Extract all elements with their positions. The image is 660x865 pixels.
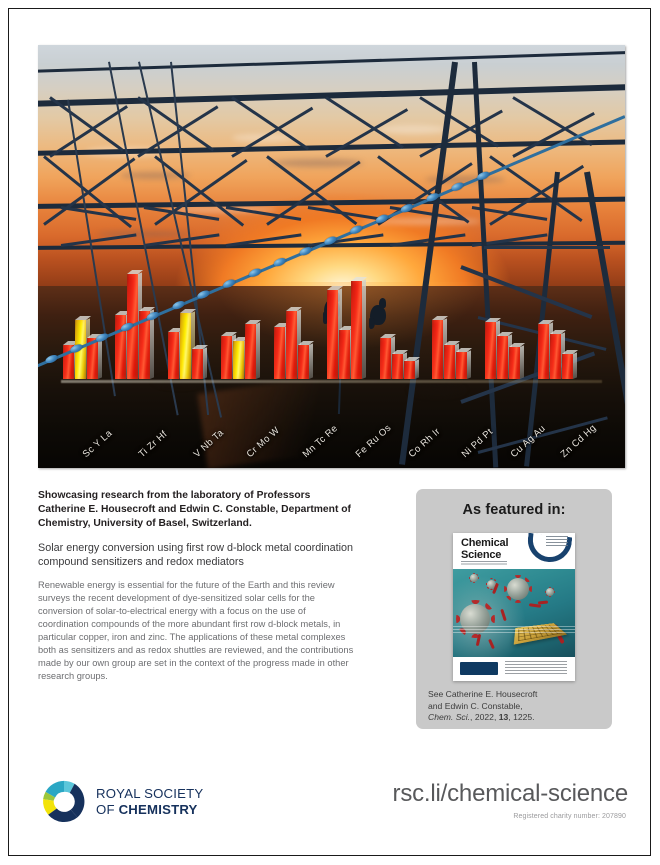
bar xyxy=(245,324,256,379)
bar-group-cr-mo-w xyxy=(221,324,256,379)
axis-label-mn-tc-re: Mn Tc Re xyxy=(301,422,340,459)
citation-year: 2022 xyxy=(475,712,494,722)
axis-label-ti-zr-hf: Ti Zr Hf xyxy=(136,428,169,459)
bar-group-zn-cd-hg xyxy=(538,324,573,379)
bar-chart: Sc Y La Ti Zr Hf V Nb Ta Cr Mo W Mn Tc R… xyxy=(38,45,625,468)
axis-label-ni-pd-pt: Ni Pd Pt xyxy=(459,426,495,460)
article-title: Solar energy conversion using first row … xyxy=(38,541,356,570)
page-footer: ROYAL SOCIETY OF CHEMISTRY rsc.li/chemic… xyxy=(0,762,660,862)
chart-baseline xyxy=(61,380,601,383)
citation-journal: Chem. Sci. xyxy=(428,712,470,722)
cover-title-line1: Chemical xyxy=(461,537,508,549)
bar-group-co-rh-ir xyxy=(380,338,415,379)
bar xyxy=(509,347,520,379)
axis-label-fe-ru-os: Fe Ru Os xyxy=(353,422,393,460)
cover-footer xyxy=(453,657,575,681)
rsc-wordmark-line1: ROYAL SOCIETY xyxy=(96,786,203,801)
journal-url[interactable]: rsc.li/chemical-science xyxy=(393,780,628,808)
bar xyxy=(221,336,232,379)
bar xyxy=(286,311,297,379)
axis-label-zn-cd-hg: Zn Cd Hg xyxy=(559,422,599,460)
rsc-wordmark-line2-prefix: OF xyxy=(96,802,119,817)
royal-society-of-chemistry-logo xyxy=(40,778,88,826)
bar xyxy=(485,322,496,379)
bar xyxy=(339,330,350,379)
as-featured-in-panel: As featured in: Chemical Science xyxy=(416,489,612,729)
bar xyxy=(432,320,443,379)
bar-group-ni-pd-pt xyxy=(432,320,467,379)
bar-group-v-nb-ta xyxy=(168,313,203,379)
bar-group-fe-ru-os xyxy=(327,281,362,379)
article-abstract: Renewable energy is essential for the fu… xyxy=(38,579,356,684)
bar xyxy=(274,327,285,379)
showcase-lead: Showcasing research from the laboratory … xyxy=(38,489,356,532)
bar xyxy=(192,349,203,379)
bar xyxy=(327,290,338,379)
bar-group-cu-ag-au xyxy=(485,322,520,379)
cover-issue-text xyxy=(546,536,568,548)
bar-group-mn-tc-re xyxy=(274,311,309,379)
rsc-wordmark-line2-bold: CHEMISTRY xyxy=(119,802,198,817)
bar xyxy=(351,281,362,379)
bar xyxy=(444,345,455,379)
cover-rsc-logo xyxy=(460,662,498,675)
cover-strapline xyxy=(461,561,507,566)
citation-line2: and Edwin C. Constable, xyxy=(428,701,523,711)
charity-number: Registered charity number: 207890 xyxy=(513,813,626,820)
cover-art-caption xyxy=(453,626,575,633)
hero-image: Sc Y La Ti Zr Hf V Nb Ta Cr Mo W Mn Tc R… xyxy=(38,45,625,468)
bar xyxy=(168,332,179,379)
axis-label-v-nb-ta: V Nb Ta xyxy=(192,427,226,460)
bar xyxy=(550,334,561,379)
bar xyxy=(233,341,244,379)
bar xyxy=(562,354,573,379)
citation-line1: See Catherine E. Housecroft xyxy=(428,689,537,699)
bar xyxy=(180,313,191,379)
bar xyxy=(404,361,415,379)
axis-label-sc-y-la: Sc Y La xyxy=(81,427,115,459)
bar xyxy=(456,352,467,379)
bar xyxy=(380,338,391,379)
axis-label-cu-ag-au: Cu Ag Au xyxy=(509,423,548,460)
citation: See Catherine E. Housecroft and Edwin C.… xyxy=(428,689,600,724)
journal-cover-thumbnail[interactable]: Chemical Science xyxy=(453,533,575,681)
bar xyxy=(392,354,403,379)
showcase-text-block: Showcasing research from the laboratory … xyxy=(38,489,356,684)
bar xyxy=(538,324,549,379)
citation-volume: 13 xyxy=(499,712,509,722)
rsc-wordmark: ROYAL SOCIETY OF CHEMISTRY xyxy=(96,786,203,817)
citation-page: 1225. xyxy=(513,712,535,722)
cover-header: Chemical Science xyxy=(453,533,575,569)
cover-footer-text xyxy=(505,661,567,676)
cover-title: Chemical Science xyxy=(461,538,508,561)
cover-artwork xyxy=(453,569,575,657)
bar xyxy=(497,336,508,379)
axis-label-cr-mo-w: Cr Mo W xyxy=(245,424,282,459)
bar xyxy=(298,345,309,379)
advertisement-page: Sc Y La Ti Zr Hf V Nb Ta Cr Mo W Mn Tc R… xyxy=(0,0,660,865)
axis-label-co-rh-ir: Co Rh Ir xyxy=(406,426,442,460)
cover-title-line2: Science xyxy=(461,549,501,561)
featured-heading: As featured in: xyxy=(416,489,612,518)
